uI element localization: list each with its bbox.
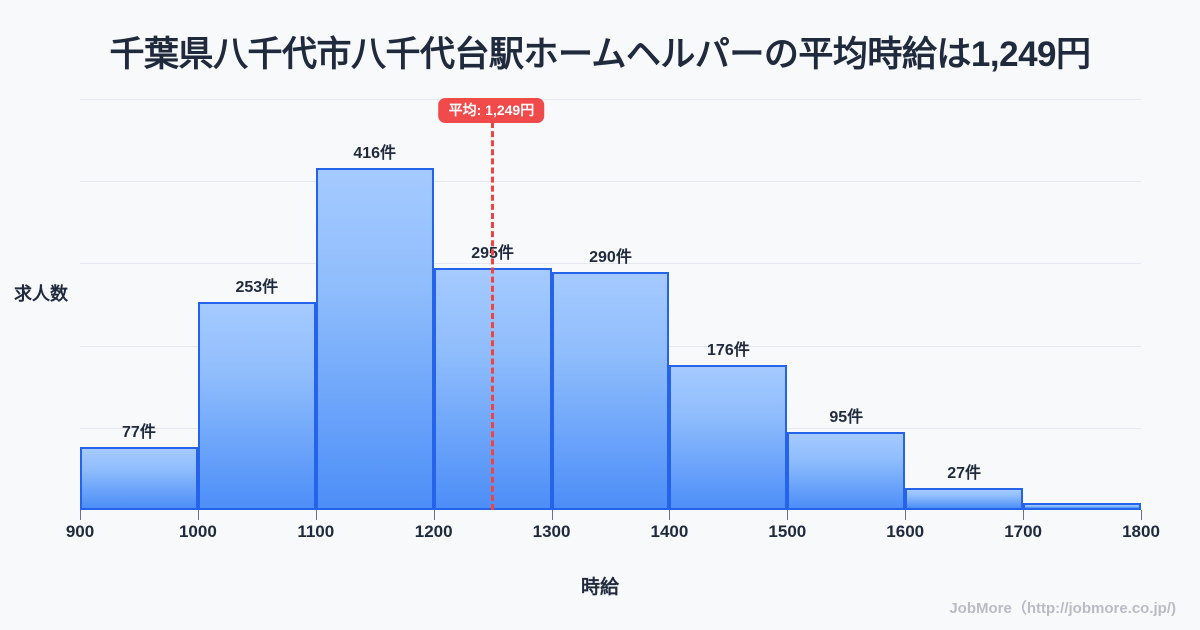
axis-tick [1141,510,1142,520]
x-axis-title: 時給 [0,572,1200,599]
axis-tick [434,510,435,520]
bar[interactable] [316,168,434,510]
x-tick-label: 1700 [1004,522,1042,542]
bar-value-label: 95件 [787,403,905,427]
bar-value-label: 27件 [905,459,1023,483]
axis-tick [80,510,81,520]
watermark: JobMore（http://jobmore.co.jp/) [949,597,1176,618]
bar[interactable] [905,488,1023,510]
axis-tick [552,510,553,520]
x-tick-label: 1100 [297,522,334,542]
plot-area: 77件253件416件295件290件176件95件27件 9001000110… [80,99,1141,510]
x-tick-label: 1000 [179,522,217,542]
y-axis-title: 求人数 [14,280,68,306]
axis-tick [1023,510,1024,520]
x-tick-label: 1400 [651,522,689,542]
bar-value-label: 416件 [316,139,434,163]
average-badge: 平均: 1,249円 [439,98,545,123]
bar-value-label: 77件 [80,418,198,442]
x-tick-label: 1800 [1122,522,1160,542]
x-tick-label: 1500 [768,522,806,542]
bar[interactable] [669,365,787,510]
bar[interactable] [80,447,198,510]
bar[interactable] [787,432,905,510]
bar-value-label: 253件 [198,273,316,297]
chart-page: 千葉県八千代市八千代台駅ホームヘルパーの平均時給は1,249円 求人数 77件2… [0,0,1200,630]
axis-tick [669,510,670,520]
bar-series: 77件253件416件295件290件176件95件27件 [80,99,1141,510]
bar[interactable] [1023,503,1141,510]
axis-tick [905,510,906,520]
x-tick-label: 1200 [415,522,453,542]
bar[interactable] [198,302,316,510]
x-tick-label: 900 [66,522,94,542]
x-tick-label: 1300 [533,522,571,542]
axis-tick [787,510,788,520]
bar-value-label: 290件 [552,243,670,267]
average-line [491,122,494,510]
bar[interactable] [552,272,670,510]
bar-value-label: 176件 [669,336,787,360]
axis-tick [316,510,317,520]
x-tick-label: 1600 [886,522,924,542]
page-title: 千葉県八千代市八千代台駅ホームヘルパーの平均時給は1,249円 [0,26,1200,77]
axis-tick [198,510,199,520]
